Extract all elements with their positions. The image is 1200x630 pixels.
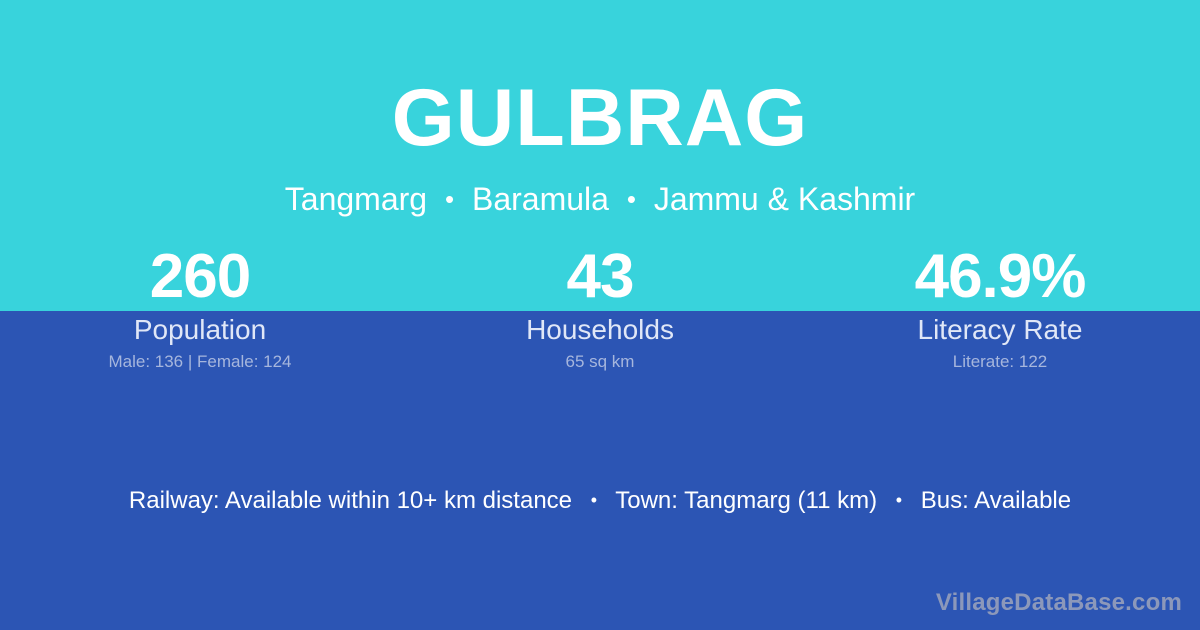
bullet-separator-icon: • [436, 184, 463, 214]
stat-subtext: 65 sq km [400, 352, 800, 372]
bullet-separator-icon: • [579, 490, 609, 510]
stat-value: 260 [0, 243, 400, 311]
village-info-card: GULBRAG Tangmarg • Baramula • Jammu & Ka… [0, 0, 1200, 630]
amenities-line: Railway: Available within 10+ km distanc… [0, 484, 1200, 517]
stat-subtext: Male: 136 | Female: 124 [0, 352, 400, 372]
breadcrumb-district: Baramula [472, 181, 609, 217]
stat-subtext: Literate: 122 [800, 352, 1200, 372]
stat-label: Population [0, 314, 400, 346]
stat-value: 43 [400, 243, 800, 311]
stat-label: Households [400, 314, 800, 346]
stat-value: 46.9% [800, 243, 1200, 311]
bullet-separator-icon: • [884, 490, 914, 510]
site-brand-watermark: VillageDataBase.com [936, 589, 1182, 617]
stat-population: 260 Population Male: 136 | Female: 124 [0, 243, 400, 372]
breadcrumb-block: Tangmarg [285, 181, 427, 217]
stat-households: 43 Households 65 sq km [400, 243, 800, 372]
stats-row: 260 Population Male: 136 | Female: 124 4… [0, 243, 1200, 372]
amenity-railway: Railway: Available within 10+ km distanc… [129, 487, 572, 514]
stat-label: Literacy Rate [800, 314, 1200, 346]
breadcrumb-state: Jammu & Kashmir [654, 181, 915, 217]
stat-literacy-rate: 46.9% Literacy Rate Literate: 122 [800, 243, 1200, 372]
amenity-bus: Bus: Available [921, 487, 1071, 514]
page-title: GULBRAG [0, 78, 1200, 159]
bullet-separator-icon: • [618, 184, 645, 214]
breadcrumb: Tangmarg • Baramula • Jammu & Kashmir [0, 180, 1200, 218]
amenity-town: Town: Tangmarg (11 km) [615, 487, 877, 514]
